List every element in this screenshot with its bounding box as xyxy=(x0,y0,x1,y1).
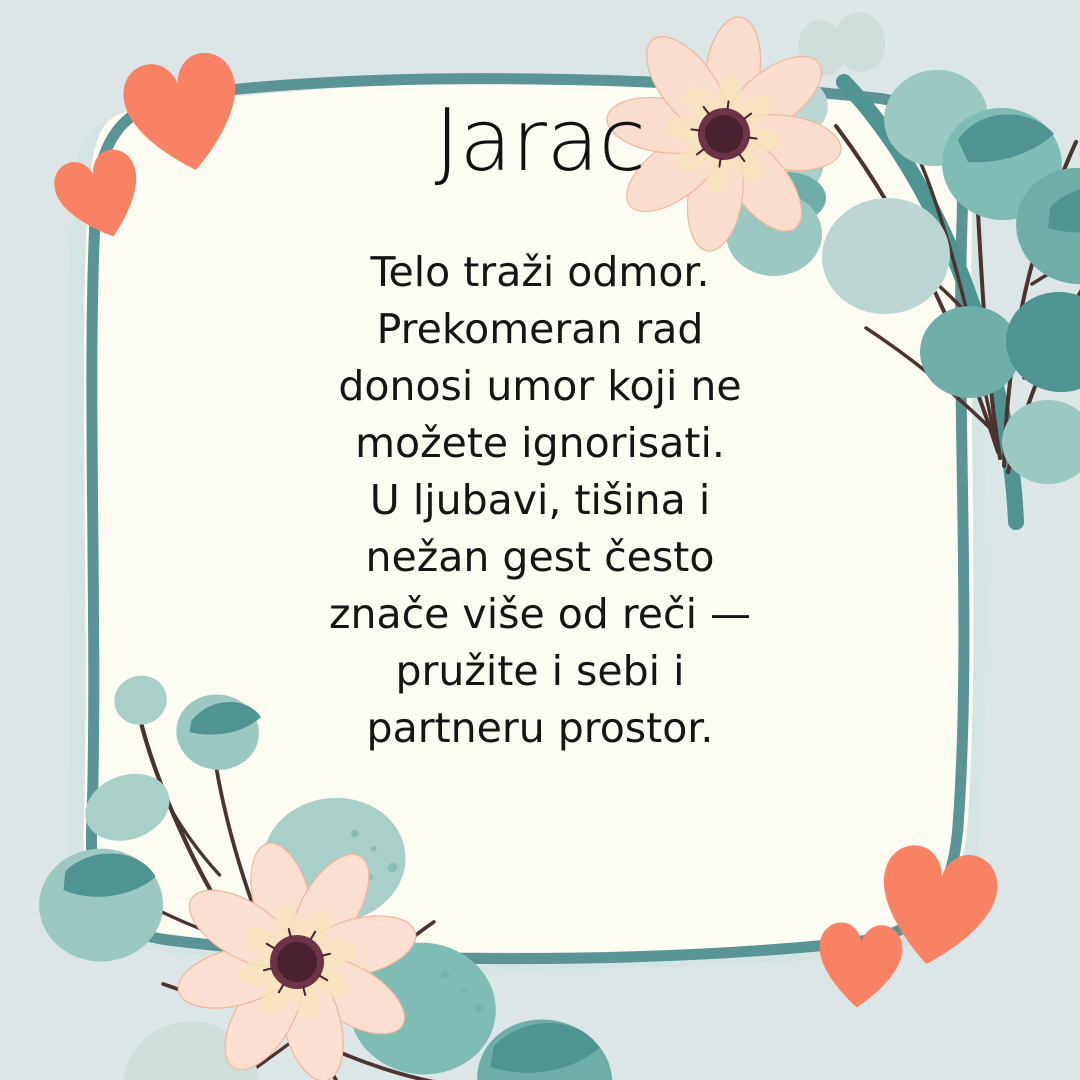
heart-decorations xyxy=(0,0,1080,1080)
heart-top-left-large xyxy=(118,47,251,181)
heart-bottom-right-small xyxy=(816,921,904,1010)
heart-top-left-small xyxy=(48,144,153,249)
horoscope-card: Jarac Telo traži odmor. Prekomeran rad d… xyxy=(0,0,1080,1080)
